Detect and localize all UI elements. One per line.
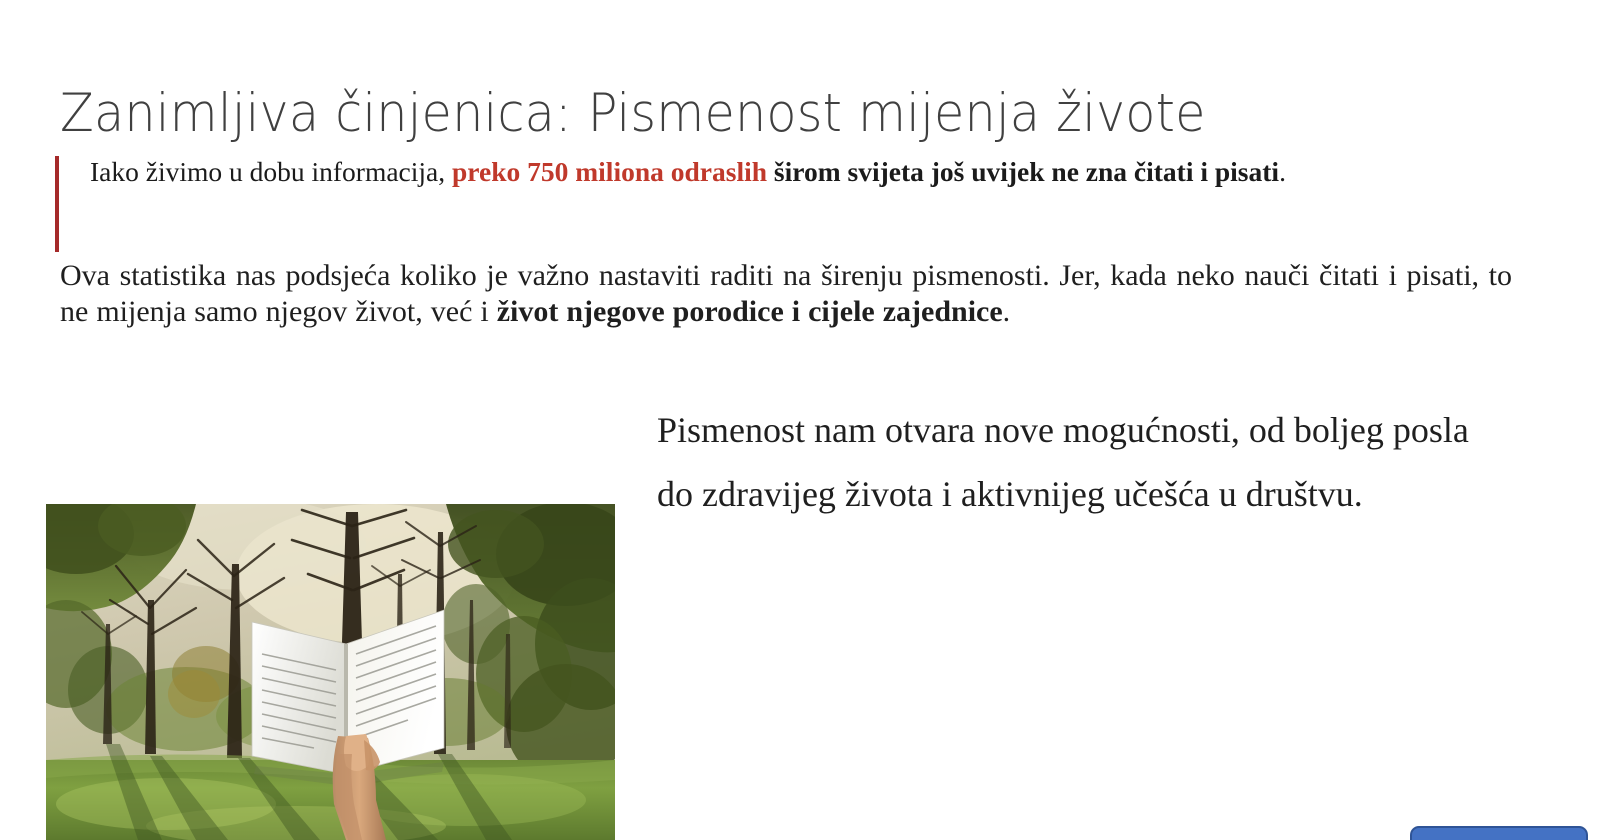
book-in-park-photo (46, 504, 615, 840)
quote-end-punctuation: . (1279, 156, 1286, 187)
page-title: Zanimljiva činjenica: Pismenost mijenja … (60, 84, 1418, 143)
quote-lead-text: Iako živimo u dobu informacija, (90, 156, 452, 187)
statement-text: Pismenost nam otvara nove mogućnosti, od… (657, 398, 1487, 526)
quote-accent-bar (55, 156, 59, 252)
blue-action-button[interactable] (1410, 826, 1588, 840)
slide: Zanimljiva činjenica: Pismenost mijenja … (0, 0, 1600, 840)
paragraph-part-two: . (1003, 295, 1011, 328)
paragraph-emphasis: život njegove porodice i cijele zajednic… (497, 295, 1003, 328)
quote-highlight-text: preko 750 miliona odraslih (452, 156, 767, 187)
body-paragraph: Ova statistika nas podsjeća koliko je va… (60, 258, 1512, 330)
quote-callout: Iako živimo u dobu informacija, preko 75… (55, 156, 1515, 188)
quote-text: Iako živimo u dobu informacija, preko 75… (55, 156, 1515, 188)
photo-illustration (46, 504, 615, 840)
quote-bold-text: širom svijeta još uvijek ne zna čitati i… (767, 156, 1279, 187)
